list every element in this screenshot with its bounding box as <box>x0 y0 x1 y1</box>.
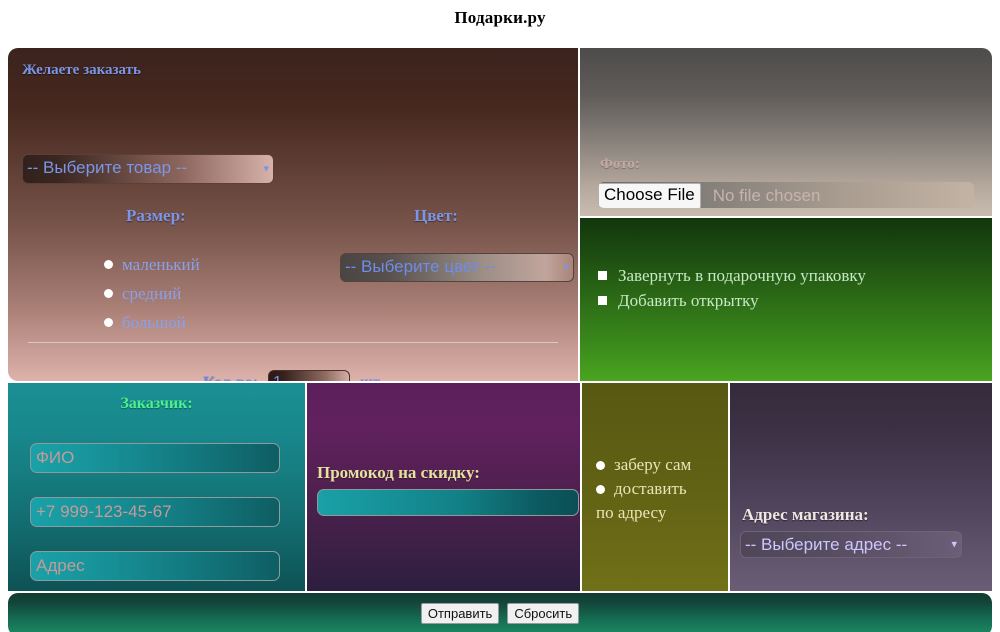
color-label: Цвет: <box>414 206 458 226</box>
chevron-down-icon: ▾ <box>563 255 569 280</box>
customer-panel: Заказчик: ФИО +7 999-123-45-67 Адрес <box>8 383 305 591</box>
radio-icon[interactable] <box>104 260 113 269</box>
size-option-small[interactable]: маленький <box>104 252 200 281</box>
gift-option-card[interactable]: Добавить открытку <box>598 289 866 314</box>
delivery-option-label: доставить <box>614 479 687 498</box>
promo-input[interactable] <box>317 489 579 516</box>
promo-panel: Промокод на скидку: <box>307 383 580 591</box>
product-select-value: -- Выберите товар -- <box>27 158 187 177</box>
photo-label: Фото: <box>600 156 640 173</box>
shop-address-select-value: -- Выберите адрес -- <box>745 535 907 554</box>
radio-icon[interactable] <box>596 461 605 470</box>
promo-label: Промокод на скидку: <box>317 463 480 483</box>
quantity-row: Кол-во: 1 шт. <box>8 370 578 381</box>
phone-input[interactable]: +7 999-123-45-67 <box>30 497 280 527</box>
shop-address-select[interactable]: -- Выберите адрес -- ▾ <box>740 531 962 558</box>
shop-address-label: Адрес магазина: <box>742 505 869 525</box>
size-option-medium[interactable]: средний <box>104 281 200 310</box>
page-root: Подарки.ру Желаете заказать -- Выберите … <box>0 0 1000 632</box>
checkbox-icon[interactable] <box>598 296 607 305</box>
chevron-down-icon: ▾ <box>263 156 269 182</box>
page-title: Подарки.ру <box>0 8 1000 28</box>
product-panel: Желаете заказать -- Выберите товар -- ▾ … <box>8 48 578 381</box>
quantity-input[interactable]: 1 <box>268 370 350 381</box>
delivery-radio-group: заберу сам доставить по адресу <box>596 453 726 525</box>
gift-option-label: Завернуть в подарочную упаковку <box>618 266 866 285</box>
delivery-option-label: заберу сам <box>614 455 691 474</box>
customer-panel-legend: Заказчик: <box>8 395 305 413</box>
size-option-label: большой <box>122 313 186 332</box>
reset-button[interactable]: Сбросить <box>507 603 579 624</box>
delivery-option-deliver[interactable]: доставить по адресу <box>596 477 726 525</box>
divider <box>28 342 558 343</box>
delivery-option-label-line2: по адресу <box>596 501 726 525</box>
product-panel-legend: Желаете заказать <box>22 62 141 79</box>
product-select[interactable]: -- Выберите товар -- ▾ <box>22 154 274 184</box>
chevron-down-icon: ▾ <box>951 532 957 557</box>
quantity-unit: шт. <box>360 375 383 382</box>
radio-icon[interactable] <box>596 485 605 494</box>
submit-button[interactable]: Отправить <box>421 603 499 624</box>
choose-file-button[interactable]: Choose File <box>598 183 701 208</box>
photo-panel: Фото: Choose File No file chosen <box>580 48 992 216</box>
size-option-large[interactable]: большой <box>104 310 200 339</box>
checkbox-icon[interactable] <box>598 271 607 280</box>
color-select[interactable]: -- Выберите цвет -- ▾ <box>340 253 574 282</box>
fio-input[interactable]: ФИО <box>30 443 280 473</box>
delivery-option-pickup[interactable]: заберу сам <box>596 453 726 477</box>
gift-option-label: Добавить открытку <box>618 291 759 310</box>
gift-option-wrap[interactable]: Завернуть в подарочную упаковку <box>598 264 866 289</box>
footer-button-group: Отправить Сбросить <box>8 603 992 624</box>
shop-address-panel: Адрес магазина: -- Выберите адрес -- ▾ <box>730 383 992 591</box>
gift-options-panel: Завернуть в подарочную упаковку Добавить… <box>580 218 992 381</box>
order-form: Желаете заказать -- Выберите товар -- ▾ … <box>8 48 992 624</box>
size-radio-group: маленький средний большой <box>104 252 200 339</box>
gift-checkbox-group: Завернуть в подарочную упаковку Добавить… <box>598 264 866 314</box>
size-label: Размер: <box>126 206 186 226</box>
color-select-value: -- Выберите цвет -- <box>345 257 496 276</box>
size-option-label: маленький <box>122 255 200 274</box>
size-option-label: средний <box>122 284 181 303</box>
address-input[interactable]: Адрес <box>30 551 280 581</box>
photo-file-input[interactable]: Choose File No file chosen <box>598 182 974 208</box>
no-file-chosen-text: No file chosen <box>713 186 821 206</box>
form-footer: Отправить Сбросить <box>8 593 992 632</box>
quantity-label: Кол-во: <box>203 374 258 381</box>
delivery-panel: заберу сам доставить по адресу <box>582 383 728 591</box>
radio-icon[interactable] <box>104 289 113 298</box>
radio-icon[interactable] <box>104 318 113 327</box>
